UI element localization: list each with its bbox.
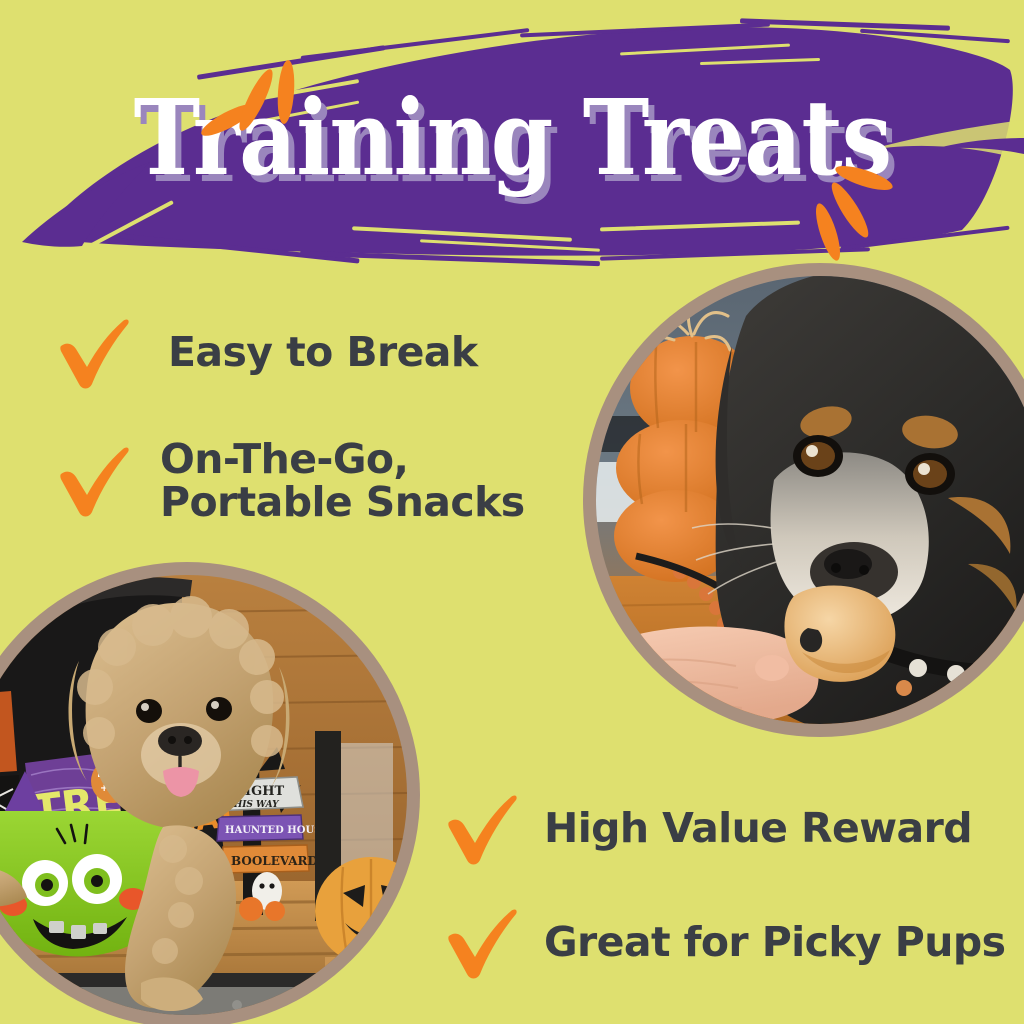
benefit-on-the-go: On-The-Go, Portable Snacks [58, 438, 525, 525]
benefit-label: Great for Picky Pups [544, 921, 1005, 964]
photo-inner-bottom-left: TREAT OR FARM +PET TREAT FARM [0, 575, 407, 1015]
benefit-easy-to-break: Easy to Break [58, 316, 478, 390]
orange-checkmark-icon [58, 444, 132, 518]
benefit-label: High Value Reward [544, 807, 972, 850]
svg-text:HAUNTED HOUSE: HAUNTED HOUSE [225, 825, 329, 836]
benefit-picky-pups: Great for Picky Pups [446, 906, 1005, 980]
orange-checkmark-icon [58, 316, 132, 390]
sparkle-dashes-right-icon [812, 158, 932, 278]
photo-inner-top-right [596, 276, 1024, 724]
doodle-in-doghouse-photo: TREAT OR FARM +PET TREAT FARM [0, 562, 420, 1024]
training-treats-poster: Training Treats [0, 0, 1024, 1024]
sparkle-dashes-left-icon [196, 48, 316, 168]
benefit-label: On-The-Go, Portable Snacks [160, 438, 525, 525]
benefit-high-value-reward: High Value Reward [446, 792, 972, 866]
orange-checkmark-icon [446, 792, 520, 866]
dog-taking-treat-photo [583, 263, 1024, 737]
orange-checkmark-icon [446, 906, 520, 980]
svg-text:BOOLEVARD: BOOLEVARD [231, 854, 318, 868]
benefit-label: Easy to Break [168, 331, 478, 374]
